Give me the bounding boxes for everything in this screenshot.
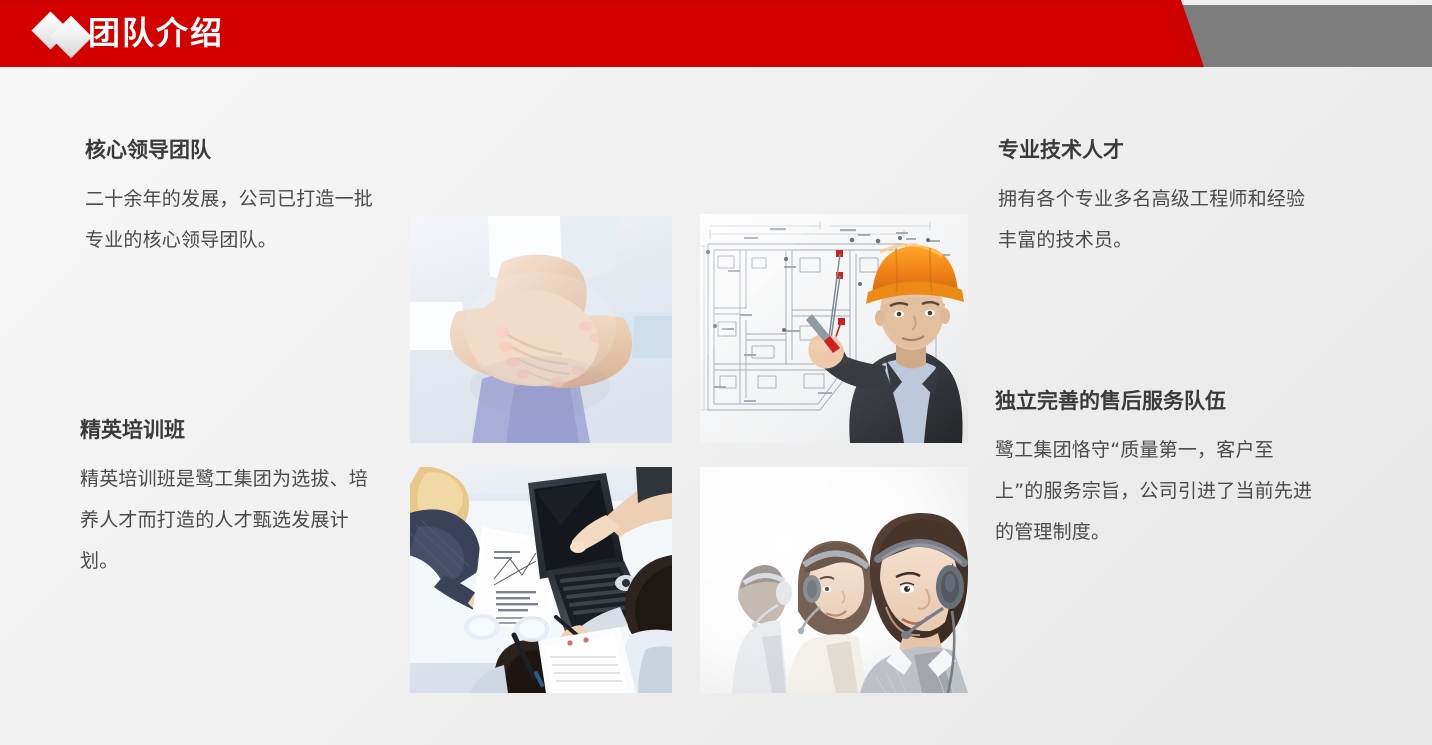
page-title: 团队介绍	[88, 9, 224, 57]
block-body: 精英培训班是鹭工集团为选拔、培养人才而打造的人才甄选发展计划。	[80, 459, 385, 582]
teamwork-hands-illustration	[410, 216, 672, 443]
block-body: 鹭工集团恪守“质量第一，客户至上”的服务宗旨，公司引进了当前先进的管理制度。	[995, 430, 1320, 553]
page-header: 团队介绍	[0, 0, 1432, 78]
content-area: 核心领导团队 二十余年的发展，公司已打造一批专业的核心领导团队。 精英培训班 精…	[0, 78, 1432, 745]
call-center-photo	[700, 467, 968, 693]
engineer-blueprint-photo	[700, 214, 968, 443]
block-body: 拥有各个专业多名高级工程师和经验丰富的技术员。	[998, 179, 1318, 261]
feature-block-technical-talent: 专业技术人才 拥有各个专业多名高级工程师和经验丰富的技术员。	[998, 135, 1318, 261]
block-title: 核心领导团队	[85, 135, 385, 165]
call-center-illustration	[700, 467, 968, 693]
business-meeting-illustration	[410, 467, 672, 693]
block-title: 专业技术人才	[998, 135, 1318, 165]
teamwork-hands-photo	[410, 216, 672, 443]
feature-block-core-leadership: 核心领导团队 二十余年的发展，公司已打造一批专业的核心领导团队。	[85, 135, 385, 261]
engineer-blueprint-illustration	[700, 214, 968, 443]
business-meeting-photo	[410, 467, 672, 693]
feature-block-elite-training: 精英培训班 精英培训班是鹭工集团为选拔、培养人才而打造的人才甄选发展计划。	[80, 415, 385, 582]
block-title: 独立完善的售后服务队伍	[995, 386, 1320, 416]
feature-block-after-sales-service: 独立完善的售后服务队伍 鹭工集团恪守“质量第一，客户至上”的服务宗旨，公司引进了…	[995, 386, 1320, 553]
block-title: 精英培训班	[80, 415, 385, 445]
block-body: 二十余年的发展，公司已打造一批专业的核心领导团队。	[85, 179, 385, 261]
